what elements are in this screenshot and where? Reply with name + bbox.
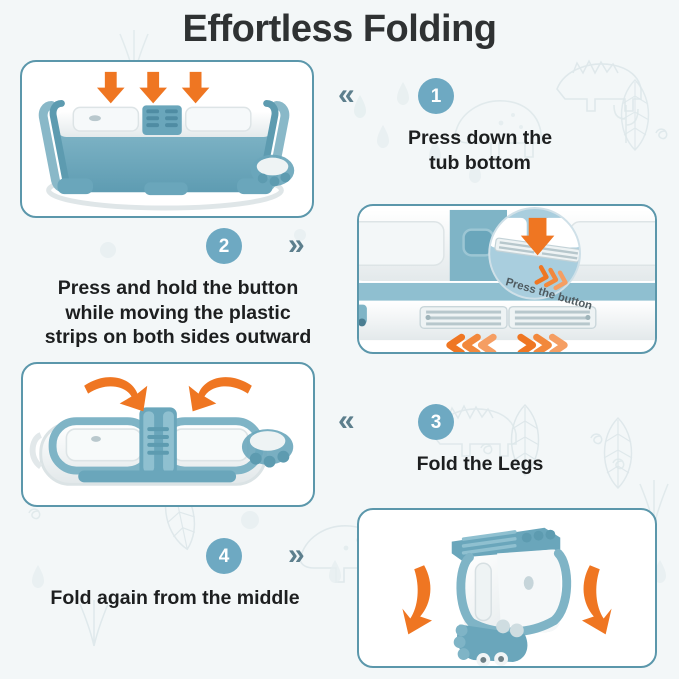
page-title: Effortless Folding — [0, 8, 679, 51]
curved-arrow-icon — [84, 377, 252, 411]
step-3-text: Fold the Legs — [350, 452, 610, 477]
tub-button-detail-illustration: Press the button — [359, 206, 655, 354]
down-arrow-icon — [97, 72, 209, 104]
step-number-badge-3: 3 — [418, 404, 454, 440]
flattened-tub-fold-legs-illustration — [23, 364, 313, 507]
step-1-text: Press down the tub bottom — [350, 126, 610, 175]
folded-tub-press-down-illustration — [22, 62, 312, 218]
chevron-right-icon: » — [288, 230, 301, 260]
chevron-left-icon: « — [338, 80, 351, 110]
step-4-caption: 4 » Fold again from the middle — [0, 538, 349, 628]
step-2-caption: 2 » Press and hold the button while movi… — [0, 228, 349, 353]
step-number-badge-1: 1 — [418, 78, 454, 114]
step-2-text: Press and hold the button while moving t… — [18, 276, 338, 350]
chevron-right-icon: » — [288, 540, 301, 570]
step-number-badge-2: 2 — [206, 228, 242, 264]
chevron-left-icon: « — [338, 406, 351, 436]
step-2-image-panel: Press the button — [357, 204, 657, 354]
step-1-image-panel — [20, 60, 314, 218]
step-4-image-panel — [357, 508, 657, 668]
step-4-text: Fold again from the middle — [10, 586, 340, 611]
fully-folded-tub-illustration — [359, 510, 655, 668]
step-1-caption: « 1 Press down the tub bottom — [330, 78, 679, 188]
step-3-caption: « 3 Fold the Legs — [330, 404, 679, 494]
step-number-badge-4: 4 — [206, 538, 242, 574]
step-3-image-panel — [21, 362, 315, 507]
